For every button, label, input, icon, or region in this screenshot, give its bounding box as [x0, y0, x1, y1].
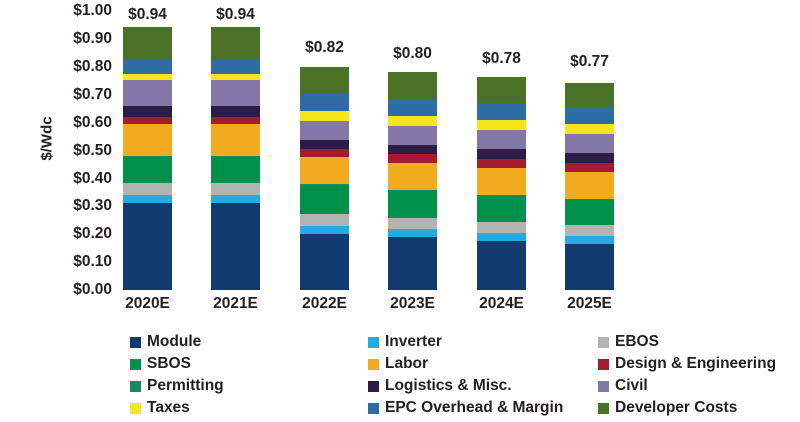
bar-segment[interactable] — [388, 237, 437, 290]
legend-column: ModuleSBOSPermittingTaxes — [130, 331, 224, 419]
bar-segment[interactable] — [477, 196, 526, 222]
legend-label: Developer Costs — [615, 400, 737, 416]
bar-segment[interactable] — [300, 185, 349, 214]
bar-segment[interactable] — [388, 145, 437, 154]
stacked-bar-chart: $/Wdc $1.00$0.90$0.80$0.70$0.60$0.50$0.4… — [0, 0, 800, 422]
bar-group[interactable]: $0.94 — [123, 28, 172, 290]
bar-segment[interactable] — [300, 121, 349, 140]
legend-item[interactable]: Labor — [368, 353, 563, 375]
legend-item[interactable]: Module — [130, 331, 224, 353]
bar-segment[interactable] — [477, 241, 526, 290]
bar-segment[interactable] — [477, 149, 526, 159]
bar-segment[interactable] — [123, 157, 172, 183]
bar-segment[interactable] — [388, 229, 437, 237]
bar-segment[interactable] — [300, 157, 349, 184]
bar-segment[interactable] — [123, 183, 172, 195]
legend-item[interactable]: EBOS — [598, 331, 776, 353]
legend-swatch-icon — [598, 403, 609, 414]
legend-item[interactable]: EPC Overhead & Margin — [368, 397, 563, 419]
x-axis-tick-label: 2024E — [477, 296, 526, 312]
legend-item[interactable]: Inverter — [368, 331, 563, 353]
bar-segment[interactable] — [565, 225, 614, 236]
bar-total-label: $0.94 — [216, 7, 255, 23]
x-axis-tick-label: 2022E — [300, 296, 349, 312]
bar-segment[interactable] — [123, 124, 172, 156]
bar-segment[interactable] — [477, 77, 526, 103]
bar-segment[interactable] — [123, 117, 172, 124]
bar-segment[interactable] — [123, 203, 172, 290]
bar-group[interactable]: $0.94 — [211, 28, 260, 290]
legend-item[interactable]: Developer Costs — [598, 397, 776, 419]
x-axis-tick-label: 2023E — [388, 296, 437, 312]
bar-segment[interactable] — [211, 106, 260, 117]
bar-segment[interactable] — [123, 195, 172, 203]
bar-segment[interactable] — [388, 99, 437, 116]
bar-segment[interactable] — [211, 195, 260, 203]
bar-segment[interactable] — [477, 103, 526, 120]
legend-swatch-icon — [368, 381, 379, 392]
bar-segment[interactable] — [211, 183, 260, 195]
legend-swatch-icon — [598, 359, 609, 370]
bar-segment[interactable] — [565, 153, 614, 163]
legend-label: Taxes — [147, 400, 190, 416]
legend-label: Labor — [385, 356, 428, 372]
bar-segment[interactable] — [300, 234, 349, 290]
legend-swatch-icon — [130, 359, 141, 370]
legend-item[interactable]: Logistics & Misc. — [368, 375, 563, 397]
bar-segment[interactable] — [388, 116, 437, 126]
bar-total-label: $0.80 — [393, 46, 432, 62]
chart-legend: ModuleSBOSPermittingTaxesInverterLaborLo… — [130, 331, 790, 419]
bar-segment[interactable] — [565, 244, 614, 290]
bar-segment[interactable] — [300, 140, 349, 149]
bar-stack — [211, 27, 260, 290]
bar-total-label: $0.77 — [570, 54, 609, 70]
bar-segment[interactable] — [211, 157, 260, 183]
bar-segment[interactable] — [300, 111, 349, 121]
legend-column: InverterLaborLogistics & Misc.EPC Overhe… — [368, 331, 563, 419]
legend-item[interactable]: Design & Engineering — [598, 353, 776, 375]
legend-swatch-icon — [130, 337, 141, 348]
legend-column: EBOSDesign & EngineeringCivilDeveloper C… — [598, 331, 776, 419]
bar-stack — [300, 67, 349, 290]
bar-segment[interactable] — [300, 94, 349, 111]
plot-area: $0.942020E$0.942021E$0.822022E$0.802023E… — [0, 0, 800, 300]
legend-swatch-icon — [368, 337, 379, 348]
legend-item[interactable]: SBOS — [130, 353, 224, 375]
bar-segment[interactable] — [565, 200, 614, 225]
bar-segment[interactable] — [388, 72, 437, 99]
bar-group[interactable]: $0.78 — [477, 73, 526, 290]
bar-stack — [477, 77, 526, 290]
bar-segment[interactable] — [211, 27, 260, 60]
x-axis-tick-label: 2020E — [123, 296, 172, 312]
bar-segment[interactable] — [300, 149, 349, 157]
legend-label: SBOS — [147, 356, 191, 372]
bar-segment[interactable] — [565, 172, 614, 199]
bar-segment[interactable] — [123, 106, 172, 117]
bar-segment[interactable] — [388, 126, 437, 145]
bar-total-label: $0.82 — [305, 40, 344, 56]
bar-segment[interactable] — [300, 214, 349, 226]
bar-segment[interactable] — [388, 154, 437, 163]
bar-segment[interactable] — [477, 130, 526, 149]
bar-segment[interactable] — [565, 107, 614, 124]
bar-segment[interactable] — [565, 124, 614, 134]
bar-segment[interactable] — [477, 120, 526, 130]
legend-item[interactable]: Permitting — [130, 375, 224, 397]
legend-swatch-icon — [130, 381, 141, 392]
bar-segment[interactable] — [388, 218, 437, 229]
legend-label: Logistics & Misc. — [385, 378, 512, 394]
bar-group[interactable]: $0.80 — [388, 67, 437, 290]
legend-label: Civil — [615, 378, 648, 394]
bar-segment[interactable] — [565, 134, 614, 153]
bar-segment[interactable] — [300, 67, 349, 94]
bar-segment[interactable] — [123, 60, 172, 74]
bar-segment[interactable] — [565, 83, 614, 107]
legend-label: Design & Engineering — [615, 356, 776, 372]
bar-segment[interactable] — [477, 233, 526, 241]
legend-item[interactable]: Civil — [598, 375, 776, 397]
bar-segment[interactable] — [300, 226, 349, 234]
legend-label: Permitting — [147, 378, 224, 394]
bar-stack — [123, 27, 172, 290]
bar-segment[interactable] — [477, 222, 526, 233]
legend-swatch-icon — [598, 337, 609, 348]
bar-segment[interactable] — [388, 163, 437, 190]
legend-label: Inverter — [385, 334, 442, 350]
bar-segment[interactable] — [123, 80, 172, 106]
legend-item[interactable]: Taxes — [130, 397, 224, 419]
bar-segment[interactable] — [211, 117, 260, 124]
bar-segment[interactable] — [565, 236, 614, 244]
bar-stack — [565, 83, 614, 290]
bar-total-label: $0.94 — [128, 7, 167, 23]
bar-segment[interactable] — [211, 203, 260, 290]
bar-stack — [388, 72, 437, 290]
bar-segment[interactable] — [211, 80, 260, 106]
bar-segment[interactable] — [477, 159, 526, 168]
x-axis-tick-label: 2025E — [565, 296, 614, 312]
bar-segment[interactable] — [477, 168, 526, 195]
legend-swatch-icon — [368, 403, 379, 414]
legend-label: EPC Overhead & Margin — [385, 400, 563, 416]
bar-group[interactable]: $0.82 — [300, 61, 349, 290]
x-axis-tick-label: 2021E — [211, 296, 260, 312]
legend-swatch-icon — [130, 403, 141, 414]
legend-swatch-icon — [598, 381, 609, 392]
bar-segment[interactable] — [565, 163, 614, 172]
bar-segment[interactable] — [123, 27, 172, 60]
legend-swatch-icon — [368, 359, 379, 370]
bar-segment[interactable] — [211, 124, 260, 156]
bar-segment[interactable] — [388, 191, 437, 218]
legend-label: EBOS — [615, 334, 659, 350]
legend-label: Module — [147, 334, 201, 350]
bar-segment[interactable] — [211, 60, 260, 74]
bar-group[interactable]: $0.77 — [565, 75, 614, 290]
bar-total-label: $0.78 — [482, 51, 521, 67]
